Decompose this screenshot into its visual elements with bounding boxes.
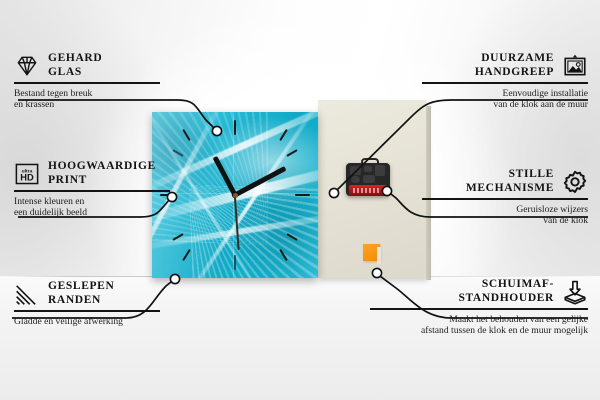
callout-title: DUURZAME HANDGREEP [475,52,554,79]
hands-pin [233,193,238,198]
callout-schuimafstandhouder: SCHUIMAF- STANDHOUDER Maakt het behouden… [356,278,588,337]
callout-description: Maakt het behouden van een gelijke afsta… [356,314,588,337]
ultra-hd-icon: ultra HD [14,161,40,187]
callout-description: Eenvoudige installatie van de klok aan d… [408,88,588,111]
callout-rule [14,190,170,192]
movement-body [346,163,390,196]
diamond-icon [14,53,40,79]
foam-spacer [363,244,380,261]
callout-gehard-glas: GEHARD GLAS Bestand tegen breuk en krass… [14,52,174,111]
callout-duurzame-handgreep: DUURZAME HANDGREEP Eenvoudige installati… [408,52,588,111]
callout-description: Bestand tegen breuk en krassen [14,88,174,111]
svg-text:HD: HD [20,172,34,182]
callout-description: Gladde en veilige afwerking [14,316,174,328]
callout-rule [422,198,588,200]
callout-geslepen-randen: GESLEPEN RANDEN Gladde en veilige afwerk… [14,280,174,327]
callout-description: Intense kleuren en een duidelijk beeld [14,196,184,219]
callout-rule [14,82,160,84]
infographic-canvas: GEHARD GLAS Bestand tegen breuk en krass… [0,0,600,400]
callout-title: GESLEPEN RANDEN [48,280,114,307]
callout-rule [370,308,588,310]
callout-description: Geruisloze wijzers van de klok [408,204,588,227]
callout-title: GEHARD GLAS [48,52,102,79]
callout-title: STILLE MECHANISME [466,168,554,195]
clock-movement [346,158,390,196]
gear-icon [562,169,588,195]
press-down-pad-icon [562,279,588,305]
callout-rule [422,82,588,84]
callout-hoogwaardige-print: ultra HD HOOGWAARDIGE PRINT Intense kleu… [14,160,184,219]
beveled-edges-icon [14,281,40,307]
product-photo [140,96,440,282]
callout-title: SCHUIMAF- STANDHOUDER [458,278,554,305]
callout-rule [14,310,160,312]
picture-frame-icon [562,53,588,79]
callout-stille-mechanisme: STILLE MECHANISME Geruisloze wijzers van… [408,168,588,227]
callout-title: HOOGWAARDIGE PRINT [48,160,156,187]
movement-battery [349,185,387,196]
